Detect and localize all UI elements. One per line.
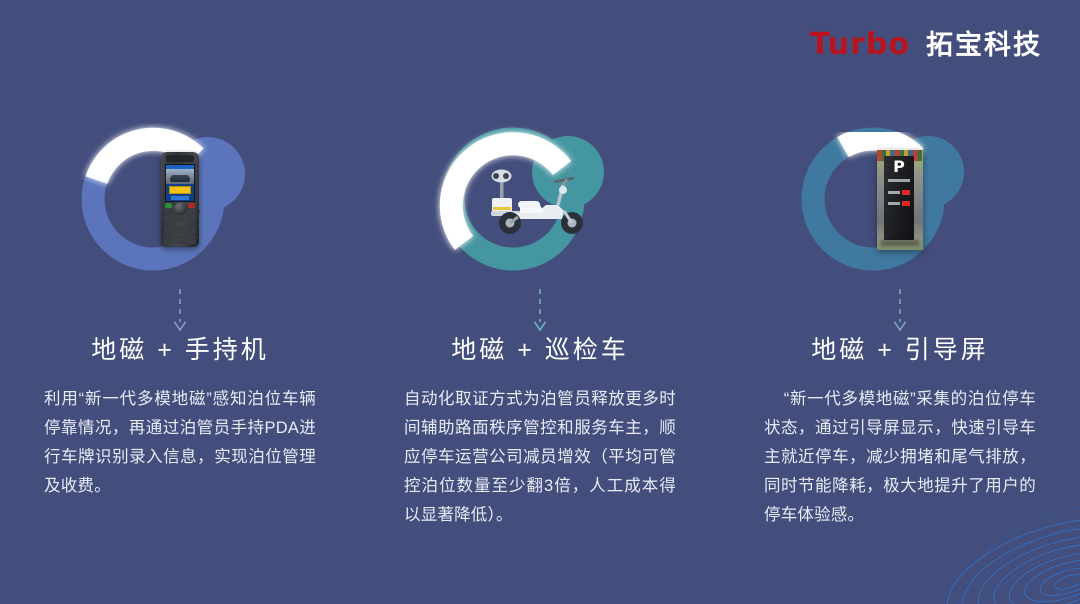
card-body-handheld: 利用“新一代多模地磁”感知泊位车辆停靠情况，再通过泊管员手持PDA进行车牌识别录…: [44, 385, 316, 501]
patrol-electric-scooter-icon: [484, 161, 596, 239]
parking-guidance-pillar-icon: P: [877, 150, 923, 250]
dashed-arrow-connector-guidance: [890, 289, 910, 335]
card-handheld[interactable]: 地磁 + 手持机 利用“新一代多模地磁”感知泊位车辆停靠情况，再通过泊管员手持P…: [0, 112, 360, 530]
card-guidance[interactable]: P 地磁 + 引导屏 “新一代多模地磁”采集的泊位停车状态，通过引导屏显示，快速…: [720, 112, 1080, 530]
ring-graphic-handheld: [65, 112, 295, 287]
dashed-arrow-connector-handheld: [170, 289, 190, 335]
device-image-handheld: [65, 112, 295, 287]
dashed-arrow-connector-patrol: [530, 289, 550, 335]
card-title-patrol: 地磁 + 巡检车: [451, 337, 629, 365]
cards-row: 地磁 + 手持机 利用“新一代多模地磁”感知泊位车辆停靠情况，再通过泊管员手持P…: [0, 112, 1080, 530]
pda-handheld-device-icon: [161, 152, 199, 247]
brand-chinese-name: 拓宝科技: [926, 32, 1042, 59]
ring-graphic-patrol: [425, 112, 655, 287]
card-body-guidance: “新一代多模地磁”采集的泊位停车状态，通过引导屏显示，快速引导车主就近停车，减少…: [764, 385, 1036, 530]
brand-latin-name: Turbo: [810, 30, 910, 60]
device-image-patrol: [425, 112, 655, 287]
card-patrol[interactable]: 地磁 + 巡检车 自动化取证方式为泊管员释放更多时间辅助路面秩序管控和服务车主，…: [360, 112, 720, 530]
device-image-guidance: P: [785, 112, 1015, 287]
card-title-guidance: 地磁 + 引导屏: [811, 337, 989, 365]
card-title-handheld: 地磁 + 手持机: [91, 337, 269, 365]
slide-canvas: Turbo 拓宝科技: [0, 0, 1080, 604]
brand-logo: Turbo 拓宝科技: [810, 30, 1042, 60]
ring-graphic-guidance: P: [785, 112, 1015, 287]
card-body-patrol: 自动化取证方式为泊管员释放更多时间辅助路面秩序管控和服务车主，顺应停车运营公司减…: [404, 385, 676, 530]
